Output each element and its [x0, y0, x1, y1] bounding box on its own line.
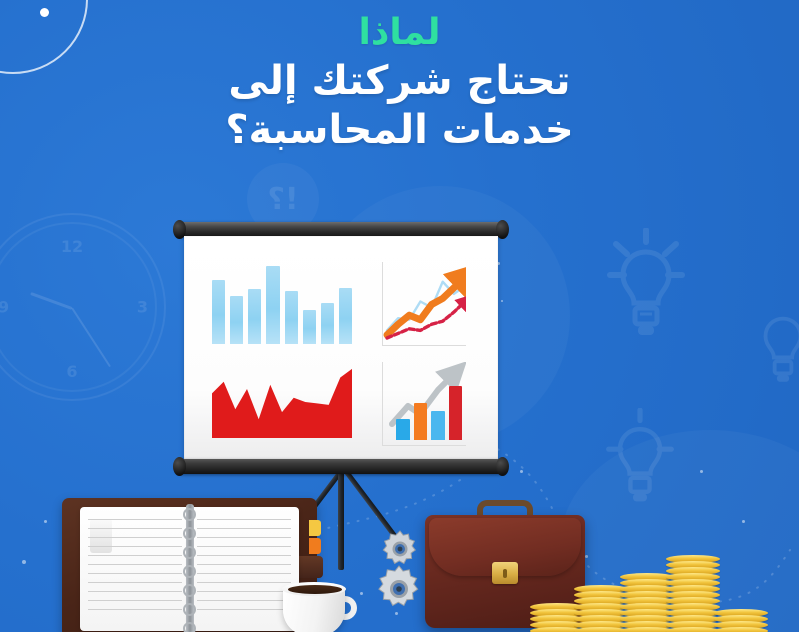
- notebook-ring: [183, 565, 196, 578]
- notebook-line: [197, 600, 291, 601]
- briefcase-lock: [492, 562, 518, 584]
- notebook-line: [88, 600, 182, 601]
- notebook-line: [197, 555, 291, 556]
- notebook-line: [197, 528, 291, 529]
- coin-stack-4: [666, 555, 720, 632]
- notebook-tab: [309, 520, 321, 536]
- coin-stacks: [530, 520, 785, 632]
- notebook-line: [88, 573, 182, 574]
- coffee-cup: [283, 580, 357, 632]
- notebook-page-left: [80, 507, 190, 631]
- open-notebook: [62, 498, 317, 632]
- notebook-lines: [197, 519, 291, 623]
- notebook-line: [197, 546, 291, 547]
- notebook-line: [197, 591, 291, 592]
- notebook-ring: [183, 527, 196, 540]
- notebook-line: [197, 564, 291, 565]
- notebook-rings: [183, 508, 197, 630]
- notebook-line: [197, 582, 291, 583]
- notebook-line: [197, 519, 291, 520]
- notebook-line: [88, 519, 182, 520]
- poster-canvas: 12 3 6 9 ؟!: [0, 0, 799, 632]
- gear-icon: [372, 563, 426, 617]
- desk-objects: [0, 0, 799, 632]
- notebook-line: [197, 609, 291, 610]
- coffee-surface: [288, 585, 342, 594]
- notebook-ring: [183, 546, 196, 559]
- notebook-line: [88, 591, 182, 592]
- coin-stack-5: [714, 609, 768, 632]
- notebook-ring: [183, 584, 196, 597]
- notebook-line: [197, 573, 291, 574]
- notebook-line: [88, 555, 182, 556]
- coin: [714, 627, 768, 632]
- notebook-line: [88, 609, 182, 610]
- notebook-line: [88, 546, 182, 547]
- notebook-line: [88, 582, 182, 583]
- notebook-ring: [183, 603, 196, 616]
- notebook-lines: [88, 519, 182, 623]
- notebook-line: [197, 537, 291, 538]
- notebook-line: [88, 564, 182, 565]
- notebook-ring: [183, 622, 196, 632]
- coin: [666, 627, 720, 632]
- notebook-ring: [183, 508, 196, 521]
- notebook-line: [88, 528, 182, 529]
- notebook-line: [88, 537, 182, 538]
- notebook-tab: [309, 538, 321, 554]
